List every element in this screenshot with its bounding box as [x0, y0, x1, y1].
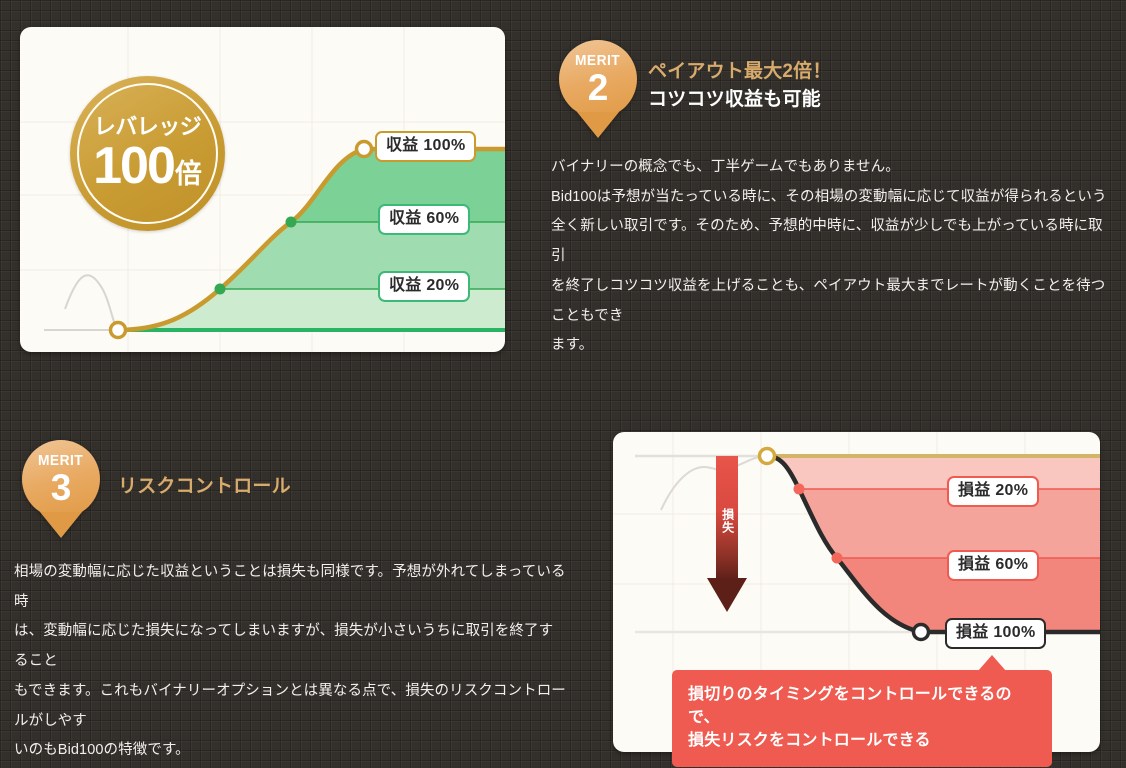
leverage-badge-value-row: 100 倍 — [93, 140, 202, 192]
loss-callout-line2: 損失リスクをコントロールできる — [688, 729, 1036, 752]
leverage-badge-value: 100 — [93, 140, 174, 192]
loss-callout: 損切りのタイミングをコントロールできるので、 損失リスクをコントロールできる — [672, 670, 1052, 767]
profit-marker-20 — [215, 284, 226, 295]
merit-2-heading: ペイアウト最大2倍！ コツコツ収益も可能 — [648, 58, 832, 113]
merit-2-pin: MERIT 2 — [559, 40, 637, 118]
merit-3-word: MERIT — [38, 453, 83, 468]
profit-marker-60 — [286, 217, 297, 228]
loss-arrow-head — [707, 578, 747, 612]
merit-2-number: 2 — [588, 69, 609, 106]
leverage-badge-unit: 倍 — [175, 161, 202, 188]
profit-ghost-curve — [65, 275, 118, 330]
loss-callout-line1: 損切りのタイミングをコントロールできるので、 — [688, 683, 1036, 729]
loss-label-100: 損益 100% — [945, 618, 1046, 649]
loss-marker-entry — [760, 449, 775, 464]
profit-marker-100 — [357, 142, 372, 157]
loss-label-20: 損益 20% — [947, 476, 1039, 507]
profit-label-20: 収益 20% — [378, 271, 470, 302]
leverage-badge-top-label: レバレッジ — [94, 116, 202, 138]
merit-3-number: 3 — [51, 469, 72, 506]
merit-2-word: MERIT — [575, 53, 620, 68]
loss-marker-20 — [794, 484, 805, 495]
merit-2-heading-line1: ペイアウト最大2倍！ — [648, 58, 832, 86]
page-root: レバレッジ 100 倍 収益 100% 収益 60% 収益 20% MERIT … — [0, 0, 1126, 768]
loss-label-60: 損益 60% — [947, 550, 1039, 581]
loss-arrow-label: 損失 — [720, 508, 733, 534]
merit-3-heading: リスクコントロール — [118, 473, 291, 501]
loss-ghost-curve — [661, 456, 767, 510]
merit-3-pin: MERIT 3 — [22, 440, 100, 518]
leverage-badge: レバレッジ 100 倍 — [70, 76, 225, 231]
merit-3-body: 相場の変動幅に応じた収益ということは損失も同様です。予想が外れてしまっている時 … — [14, 558, 567, 766]
profit-label-60: 収益 60% — [378, 204, 470, 235]
merit-2-body: バイナリーの概念でも、丁半ゲームでもありません。 Bid100は予想が当たってい… — [551, 153, 1111, 361]
profit-chart-card: レバレッジ 100 倍 収益 100% 収益 60% 収益 20% — [20, 27, 505, 352]
loss-direction-arrow: 損失 — [716, 456, 738, 616]
profit-label-100: 収益 100% — [375, 131, 476, 162]
profit-marker-entry — [111, 323, 126, 338]
loss-band-20 — [767, 456, 1100, 489]
loss-marker-100 — [914, 625, 929, 640]
merit-2-heading-line2: コツコツ収益も可能 — [648, 86, 832, 114]
loss-marker-60 — [832, 553, 843, 564]
